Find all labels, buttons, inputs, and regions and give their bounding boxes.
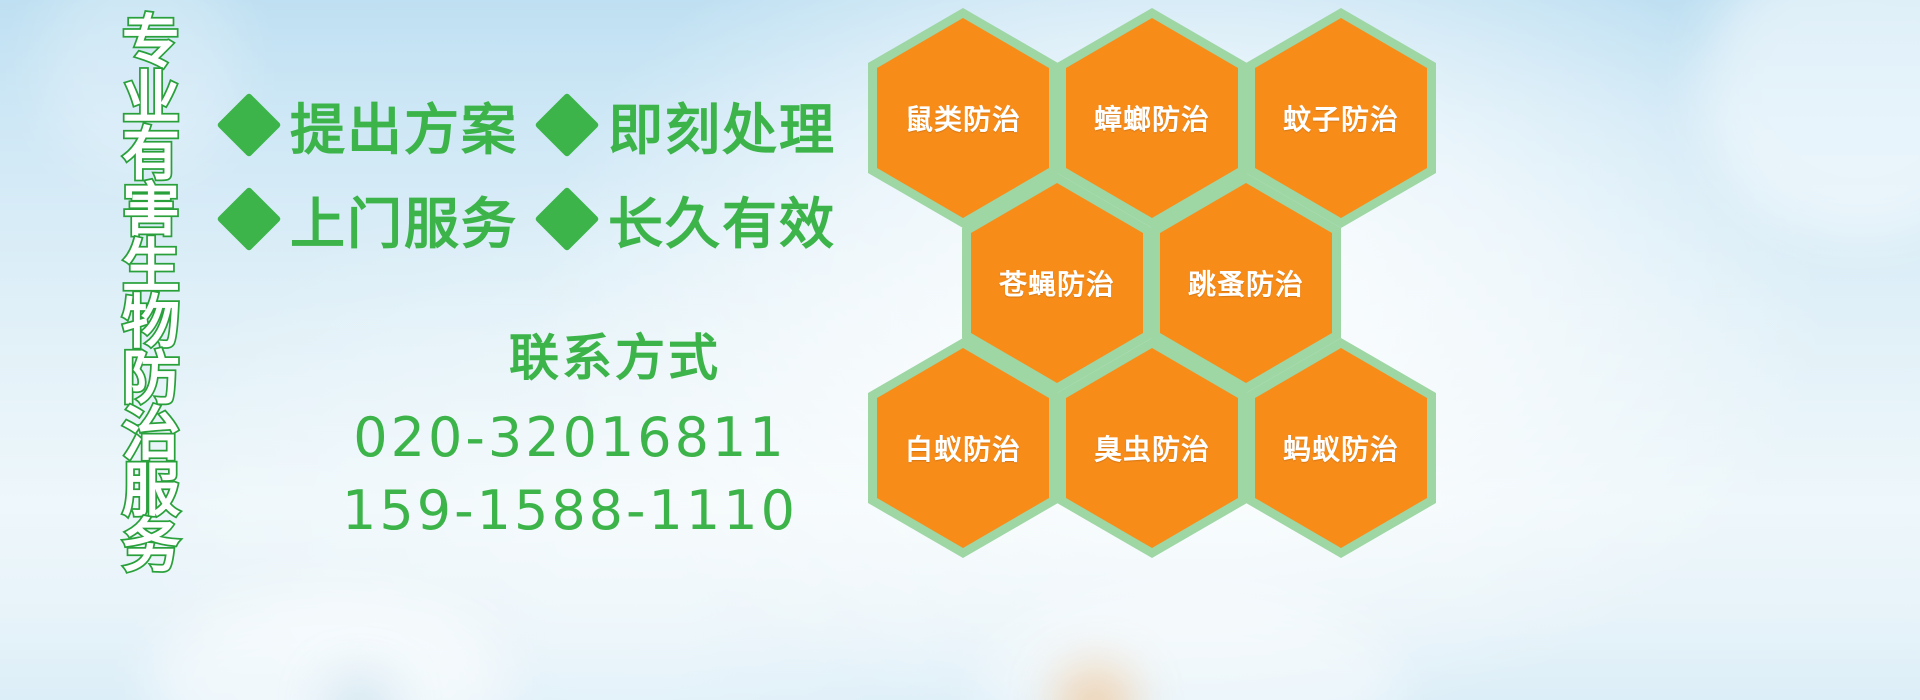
- contact-block: 联系方式 020-32016811 159-1588-1110: [300, 318, 840, 542]
- hex-inner-fill: 白蚁防治: [877, 348, 1049, 548]
- background-bokeh-blob: [330, 680, 390, 700]
- diamond-icon: [216, 92, 281, 157]
- background-bokeh-blob: [150, 590, 510, 700]
- service-label: 跳蚤防治: [1188, 263, 1304, 303]
- background-bokeh-blob: [1700, 0, 1920, 240]
- diamond-icon: [216, 186, 281, 251]
- contact-phone-landline[interactable]: 020-32016811: [300, 406, 840, 469]
- headline-char: 害: [122, 182, 180, 238]
- hex-inner-fill: 苍蝇防治: [971, 183, 1143, 383]
- hex-inner-fill: 跳蚤防治: [1160, 183, 1332, 383]
- headline-char: 生: [122, 238, 180, 294]
- headline-char: 防: [122, 350, 180, 406]
- service-label: 蟑螂防治: [1094, 98, 1210, 138]
- service-label: 苍蝇防治: [999, 263, 1115, 303]
- feature-label: 上门服务: [290, 179, 518, 259]
- headline-char: 业: [122, 70, 180, 126]
- diamond-icon: [534, 186, 599, 251]
- headline-char: 专: [122, 14, 180, 70]
- hex-inner-fill: 蚂蚁防治: [1255, 348, 1427, 548]
- hex-inner-fill: 蟑螂防治: [1066, 18, 1238, 218]
- service-label: 蚂蚁防治: [1283, 428, 1399, 468]
- feature-row: 上门服务 长久有效: [226, 172, 866, 266]
- headline-char: 服: [122, 462, 180, 518]
- feature-list: 提出方案 即刻处理 上门服务 长久有效: [226, 78, 866, 266]
- feature-row: 提出方案 即刻处理: [226, 78, 866, 172]
- feature-label: 长久有效: [608, 179, 836, 259]
- background-bokeh-blob: [980, 590, 1400, 700]
- hex-inner-fill: 臭虫防治: [1066, 348, 1238, 548]
- feature-item-onsite-service: 上门服务: [226, 179, 518, 259]
- hex-inner-fill: 蚊子防治: [1255, 18, 1427, 218]
- diamond-icon: [534, 92, 599, 157]
- feature-item-propose-plan: 提出方案: [226, 85, 518, 165]
- feature-label: 即刻处理: [608, 85, 836, 165]
- service-label: 白蚁防治: [905, 428, 1021, 468]
- headline-char: 务: [122, 518, 180, 574]
- headline-char: 治: [122, 406, 180, 462]
- feature-item-long-lasting: 长久有效: [544, 179, 836, 259]
- contact-phone-mobile[interactable]: 159-1588-1110: [300, 479, 840, 542]
- background-bokeh-blob: [1060, 670, 1130, 700]
- service-hexagon-grid: 鼠类防治 蟑螂防治 蚊子防治 苍蝇防治 跳蚤防治 白蚁防治: [860, 0, 1480, 580]
- feature-label: 提出方案: [290, 85, 518, 165]
- headline-char: 物: [122, 294, 180, 350]
- hex-inner-fill: 鼠类防治: [877, 18, 1049, 218]
- contact-title: 联系方式: [390, 318, 840, 390]
- vertical-headline: 专 业 有 害 生 物 防 治 服 务: [105, 14, 197, 574]
- pest-control-banner: 专 业 有 害 生 物 防 治 服 务 提出方案 即刻处理 上门服务: [0, 0, 1920, 700]
- headline-char: 有: [122, 126, 180, 182]
- service-label: 臭虫防治: [1094, 428, 1210, 468]
- service-label: 蚊子防治: [1283, 98, 1399, 138]
- feature-item-immediate-handling: 即刻处理: [544, 85, 836, 165]
- service-label: 鼠类防治: [905, 98, 1021, 138]
